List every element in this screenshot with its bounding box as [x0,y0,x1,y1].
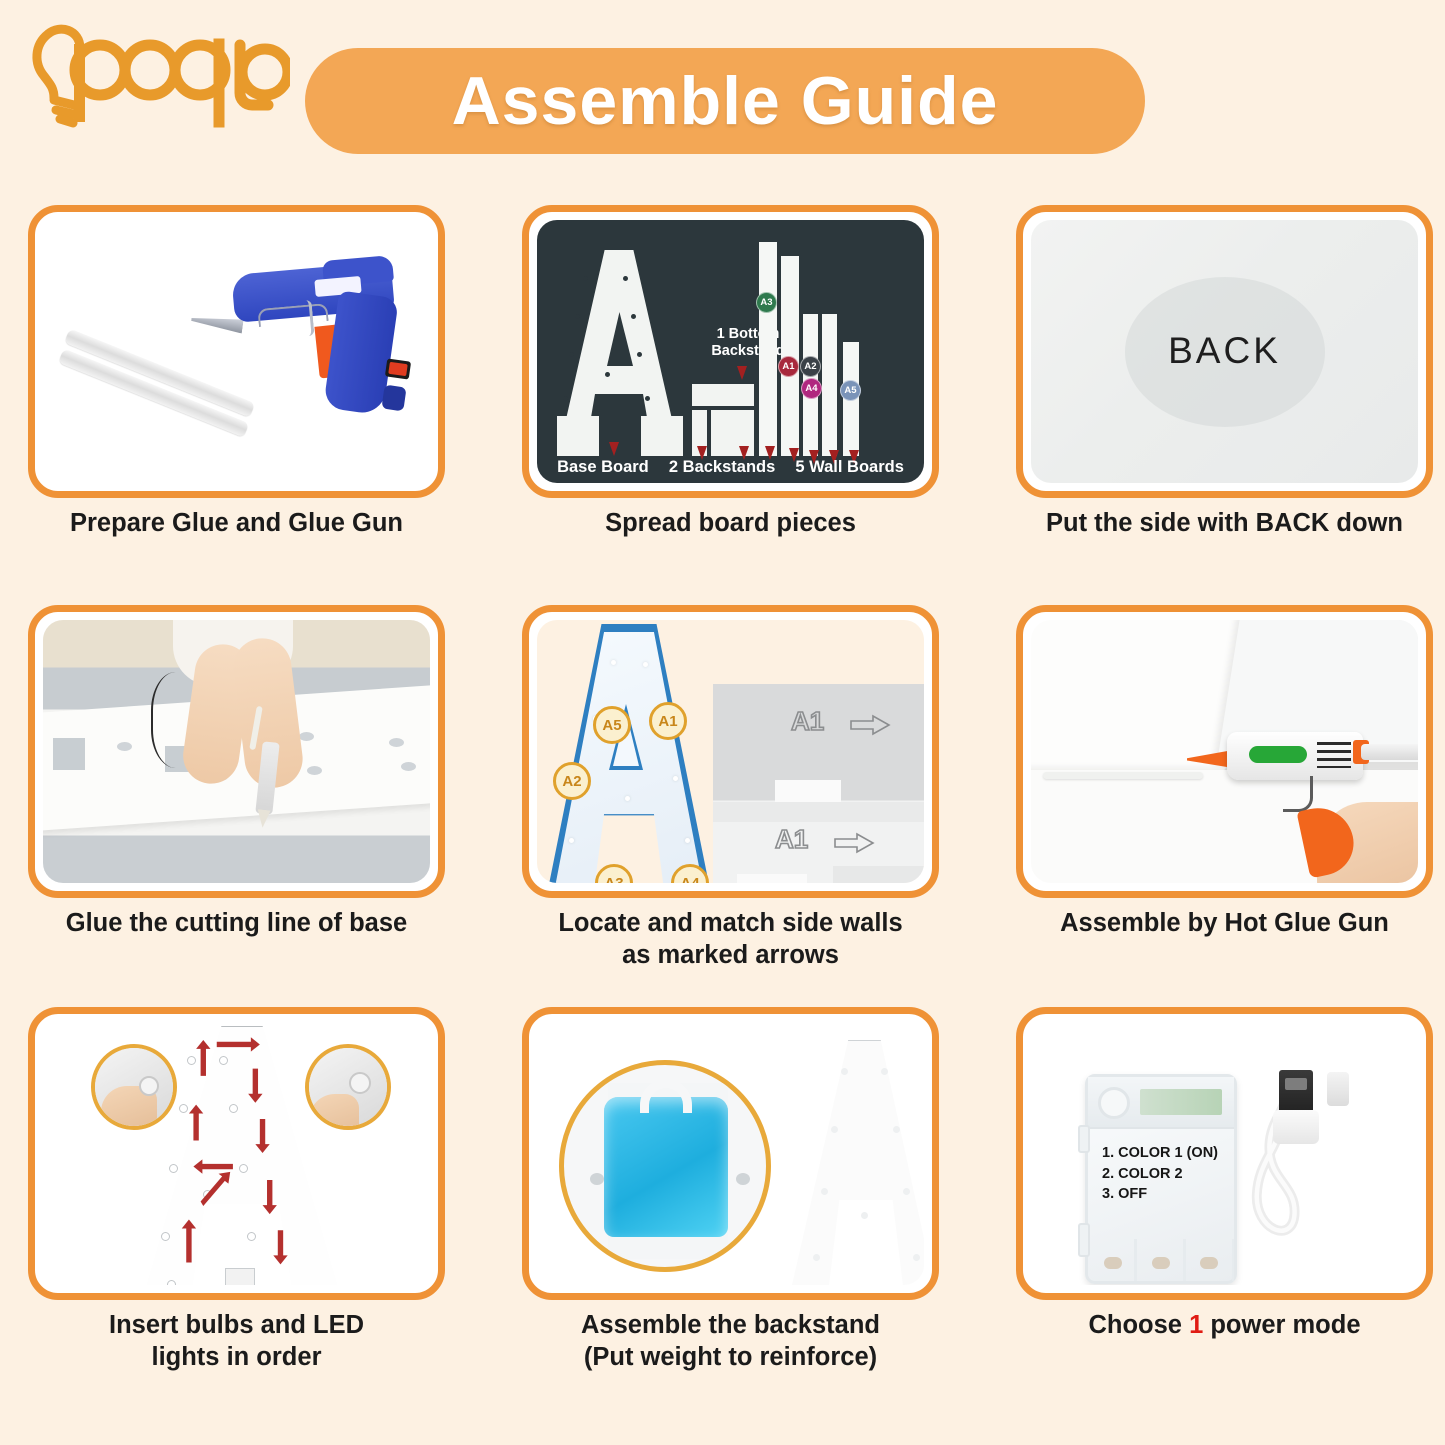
label-5-wall-boards: 5 Wall Boards [795,458,904,477]
micro-usb-connector [1327,1072,1349,1106]
step-2-caption: Spread board pieces [522,508,939,540]
step-7-caption: Insert bulbs and LED lights in order [28,1310,445,1374]
inset-bulb-insert-left [91,1044,177,1130]
page-header: Assemble Guide [0,0,1445,185]
inset-bulb-insert-right [305,1044,391,1130]
step-card-3: BACK Put the side with BACK down [1016,205,1433,605]
step-9-caption-number: 1 [1189,1311,1203,1339]
base-board-foot-left [557,416,599,456]
battery-box-position [225,1268,255,1285]
back-sticker-text: BACK [1168,330,1281,372]
step-card-4: Glue the cutting line of base [28,605,445,1007]
step-3-image-frame: BACK [1016,205,1433,498]
weight-closeup-circle [559,1060,771,1272]
hot-glue-gun-vents [1317,742,1351,768]
photo-arrow-top-icon [849,714,893,736]
board-pieces-diagram: 1 Bottom Backstand A3 A1 [537,220,924,483]
led-bulb [139,1076,159,1096]
steps-grid: Prepare Glue and Glue Gun [28,205,1428,1435]
step-2-image-frame: 1 Bottom Backstand A3 A1 [522,205,939,498]
glue-gun-illustration [43,220,430,483]
led-routing-diagram [43,1022,430,1285]
step-9-caption-prefix: Choose [1088,1311,1189,1339]
glue-bead-line [1043,772,1203,779]
step-card-9: 1. COLOR 1 (ON) 2. COLOR 2 3. OFF [1016,1007,1433,1417]
water-weight-bag [604,1097,728,1237]
power-mode-photo: 1. COLOR 1 (ON) 2. COLOR 2 3. OFF [1031,1022,1418,1285]
page-title-pill: Assemble Guide [305,48,1145,154]
hot-glue-stick [1361,744,1418,760]
assembled-letter-a [789,1040,924,1285]
step-3-caption: Put the side with BACK down [1016,508,1433,540]
step-6-image-frame [1016,605,1433,898]
wall-board-a4 [822,314,837,456]
marker-a1: A1 [649,702,687,740]
label-base-board: Base Board [557,458,649,477]
badge-a4: A4 [801,378,822,399]
step-5-caption-line1: Locate and match side walls [522,908,939,940]
badge-a1: A1 [778,356,799,377]
step-1-caption: Prepare Glue and Glue Gun [28,508,445,540]
step-card-8: Assemble the backstand (Put weight to re… [522,1007,939,1417]
step-8-caption: Assemble the backstand (Put weight to re… [522,1310,939,1374]
board-group-labels: Base Board 2 Backstands 5 Wall Boards [537,458,924,477]
label-2-backstands: 2 Backstands [669,458,775,477]
step-8-caption-line2: (Put weight to reinforce) [522,1342,939,1374]
led-bulb-socket [349,1072,371,1094]
marker-a2: A2 [553,762,591,800]
page-title: Assemble Guide [452,62,999,140]
marker-a5-top: A5 [593,706,631,744]
glue-gun-cord-end [381,385,406,412]
wall-board-marking-photo: A1 A1 [713,684,924,883]
step-7-caption-line2: lights in order [28,1342,445,1374]
step-card-7: Insert bulbs and LED lights in order [28,1007,445,1417]
board-slot-left [53,738,85,770]
hot-glue-assembly-photo [1031,620,1418,883]
step-4-image-frame [28,605,445,898]
badge-a3: A3 [756,292,777,313]
step-card-1: Prepare Glue and Glue Gun [28,205,445,605]
wall-board-a3 [759,242,777,456]
usb-a-connector [1279,1070,1313,1114]
lightbulb-icon [22,18,290,138]
backstand-piece-top [692,384,754,406]
step-1-image-frame [28,205,445,498]
backstand-weight-photo [537,1022,924,1285]
step-7-image-frame [28,1007,445,1300]
brand-logo [22,18,292,138]
photo-mark-a1-top: A1 [791,706,824,737]
photo-mark-a1-bottom: A1 [775,824,808,855]
back-side-board: BACK [1031,220,1418,483]
step-9-caption: Choose 1 power mode [1016,1310,1433,1342]
marker-a3: A3 [595,864,633,883]
step-5-image-frame: A5 A1 A2 A3 A4 A1 [522,605,939,898]
usb-connector-shell [1273,1110,1319,1144]
step-8-caption-line1: Assemble the backstand [522,1310,939,1342]
step-6-caption: Assemble by Hot Glue Gun [1016,908,1433,940]
assemble-guide-page: Assemble Guide [0,0,1445,1445]
base-board-foot-right [641,416,683,456]
photo-arrow-bottom-icon [833,832,877,854]
badge-a2: A2 [800,356,821,377]
usb-cable [1031,1022,1418,1285]
hot-glue-gun-brand-label [1249,746,1307,763]
step-7-caption-line1: Insert bulbs and LED [28,1310,445,1342]
step-8-image-frame [522,1007,939,1300]
step-9-caption-suffix: power mode [1203,1311,1360,1339]
step-9-image-frame: 1. COLOR 1 (ON) 2. COLOR 2 3. OFF [1016,1007,1433,1300]
letter-a-marker-diagram: A5 A1 A2 A3 A4 A1 [537,620,924,883]
glue-gun-power-switch [385,358,411,379]
step-card-6: Assemble by Hot Glue Gun [1016,605,1433,1007]
step-5-caption: Locate and match side walls as marked ar… [522,908,939,972]
hot-glue-gun-hook [1283,776,1313,812]
step-5-caption-line2: as marked arrows [522,940,939,972]
gluing-base-photo [43,620,430,883]
step-4-caption: Glue the cutting line of base [28,908,445,940]
step-card-2: 1 Bottom Backstand A3 A1 [522,205,939,605]
step-card-5: A5 A1 A2 A3 A4 A1 [522,605,939,1007]
badge-a5: A5 [840,380,861,401]
